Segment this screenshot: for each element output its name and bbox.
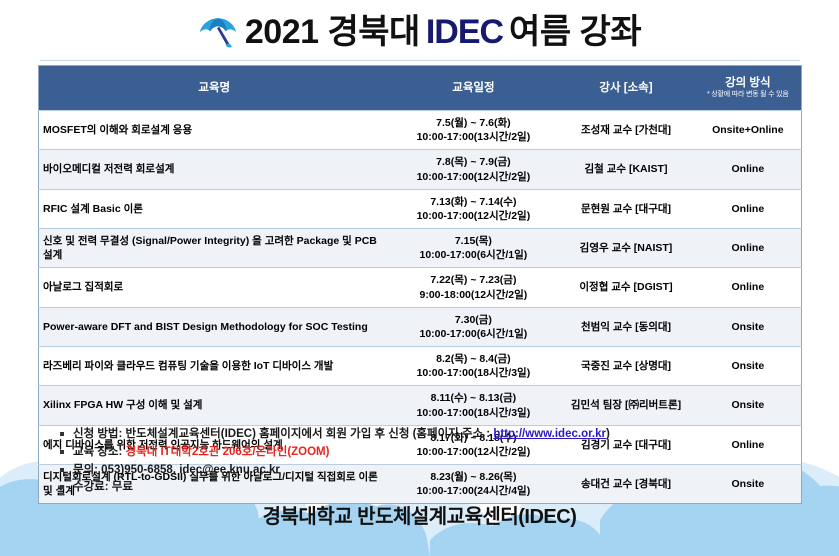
table-row: 신호 및 전력 무결성 (Signal/Power Integrity) 을 고…: [39, 229, 802, 268]
cell-course-mode: Online: [695, 150, 802, 189]
cell-course-schedule: 7.5(월) ~ 7.6(화)10:00-17:00(13시간/2일): [389, 111, 557, 150]
header-lecturer: 강사 [소속]: [557, 66, 694, 111]
cell-course-name: 신호 및 전력 무결성 (Signal/Power Integrity) 을 고…: [39, 229, 390, 268]
note-text: ): [606, 428, 610, 440]
cell-lecturer: 김영우 교수 [NAIST]: [557, 229, 694, 268]
cell-course-schedule: 8.11(수) ~ 8.13(금)10:00-17:00(18시간/3일): [389, 386, 557, 425]
cell-course-mode: Onsite: [695, 386, 802, 425]
cell-course-mode: Online: [695, 229, 802, 268]
note-text: 수강료: 무료: [73, 481, 133, 493]
cell-schedule-date: 7.22(목) ~ 7.23(금): [393, 273, 553, 287]
cell-lecturer: 이정협 교수 [DGIST]: [557, 268, 694, 307]
cell-schedule-date: 7.30(금): [393, 313, 553, 327]
note-text: 신청 방법: 반도체설계교육센터(IDEC) 홈페이지에서 회원 가입 후 신청…: [73, 428, 493, 440]
header-course-mode-label: 강의 방식: [725, 77, 771, 89]
table-header-row: 교육명 교육일정 강사 [소속] 강의 방식 * 상황에 따라 변동 될 수 있…: [39, 66, 802, 111]
table-row: MOSFET의 이해와 회로설계 응용7.5(월) ~ 7.6(화)10:00-…: [39, 111, 802, 150]
parasol-icon: [198, 12, 238, 52]
cell-course-mode: Online: [695, 268, 802, 307]
table-row: 바이오메디컬 저전력 회로설계7.8(목) ~ 7.9(금)10:00-17:0…: [39, 150, 802, 189]
cell-course-schedule: 7.8(목) ~ 7.9(금)10:00-17:00(12시간/2일): [389, 150, 557, 189]
cell-course-mode: Onsite: [695, 307, 802, 346]
cell-course-schedule: 8.2(목) ~ 8.4(금)10:00-17:00(18시간/3일): [389, 347, 557, 386]
header-course-mode-note: * 상황에 따라 변동 될 수 있음: [697, 91, 799, 100]
note-emphasis-text: 경북대 IT대학2호관 206호/온라인(ZOOM): [126, 446, 330, 458]
cell-schedule-time: 10:00-17:00(18시간/3일): [393, 366, 553, 380]
title-brand-idec: IDEC: [426, 15, 503, 49]
cell-schedule-time: 10:00-17:00(18시간/3일): [393, 406, 553, 420]
bullet-square-icon: [60, 432, 64, 436]
note-text: 문의: 053)950-6858, idec@ee.knu.ac.kr: [73, 464, 280, 476]
notes-list: 신청 방법: 반도체설계교육센터(IDEC) 홈페이지에서 회원 가입 후 신청…: [60, 426, 820, 497]
cell-schedule-date: 7.5(월) ~ 7.6(화): [393, 116, 553, 130]
cell-course-schedule: 7.15(목)10:00-17:00(6시간/1일): [389, 229, 557, 268]
bullet-square-icon: [60, 468, 64, 472]
title-suffix: 여름 강좌: [509, 15, 641, 49]
cell-schedule-date: 7.15(목): [393, 234, 553, 248]
cell-lecturer: 김민석 팀장 [㈜리버트론]: [557, 386, 694, 425]
cell-schedule-date: 7.13(화) ~ 7.14(수): [393, 195, 553, 209]
cell-course-schedule: 7.22(목) ~ 7.23(금)9:00-18:00(12시간/2일): [389, 268, 557, 307]
cell-schedule-time: 10:00-17:00(12시간/2일): [393, 209, 553, 223]
cell-lecturer: 국중진 교수 [상명대]: [557, 347, 694, 386]
cell-lecturer: 천범익 교수 [동의대]: [557, 307, 694, 346]
cell-course-name: 아날로그 집적회로: [39, 268, 390, 307]
cell-course-schedule: 7.30(금)10:00-17:00(6시간/1일): [389, 307, 557, 346]
cell-course-name: Power-aware DFT and BIST Design Methodol…: [39, 307, 390, 346]
cell-course-mode: Online: [695, 189, 802, 228]
cell-schedule-time: 10:00-17:00(13시간/2일): [393, 130, 553, 144]
note-item: 신청 방법: 반도체설계교육센터(IDEC) 홈페이지에서 회원 가입 후 신청…: [60, 426, 820, 444]
header-course-name: 교육명: [39, 66, 390, 111]
note-item: 문의: 053)950-6858, idec@ee.knu.ac.kr: [60, 462, 820, 480]
cell-schedule-date: 8.11(수) ~ 8.13(금): [393, 391, 553, 405]
cell-schedule-time: 9:00-18:00(12시간/2일): [393, 288, 553, 302]
header-course-schedule: 교육일정: [389, 66, 557, 111]
cell-lecturer: 문현원 교수 [대구대]: [557, 189, 694, 228]
cell-schedule-date: 8.2(목) ~ 8.4(금): [393, 352, 553, 366]
cell-lecturer: 조성재 교수 [가천대]: [557, 111, 694, 150]
table-row: Power-aware DFT and BIST Design Methodol…: [39, 307, 802, 346]
cell-course-schedule: 7.13(화) ~ 7.14(수)10:00-17:00(12시간/2일): [389, 189, 557, 228]
cell-schedule-time: 10:00-17:00(6시간/1일): [393, 327, 553, 341]
page-title: 2021 경북대 IDEC 여름 강좌: [0, 6, 839, 58]
note-text: 교육 장소:: [73, 446, 126, 458]
bullet-square-icon: [60, 450, 64, 454]
footer-organization: 경북대학교 반도체설계교육센터(IDEC): [0, 500, 839, 529]
cell-course-mode: Onsite: [695, 347, 802, 386]
table-row: 라즈베리 파이와 클라우드 컴퓨팅 기술을 이용한 IoT 디바이스 개발8.2…: [39, 347, 802, 386]
cell-schedule-time: 10:00-17:00(12시간/2일): [393, 170, 553, 184]
cell-course-name: RFIC 설계 Basic 이론: [39, 189, 390, 228]
table-row: Xilinx FPGA HW 구성 이해 및 설계8.11(수) ~ 8.13(…: [39, 386, 802, 425]
cell-course-name: 라즈베리 파이와 클라우드 컴퓨팅 기술을 이용한 IoT 디바이스 개발: [39, 347, 390, 386]
note-item: 교육 장소: 경북대 IT대학2호관 206호/온라인(ZOOM): [60, 444, 820, 462]
cell-course-name: 바이오메디컬 저전력 회로설계: [39, 150, 390, 189]
note-homepage-link[interactable]: http://www.idec.or.kr: [493, 428, 606, 440]
cell-course-name: Xilinx FPGA HW 구성 이해 및 설계: [39, 386, 390, 425]
header-course-mode: 강의 방식 * 상황에 따라 변동 될 수 있음: [695, 66, 802, 111]
cell-lecturer: 김철 교수 [KAIST]: [557, 150, 694, 189]
note-item: 수강료: 무료: [60, 479, 820, 497]
cell-course-name: MOSFET의 이해와 회로설계 응용: [39, 111, 390, 150]
top-divider-rule: [40, 60, 800, 61]
title-prefix: 2021 경북대: [245, 15, 420, 49]
cell-schedule-date: 7.8(목) ~ 7.9(금): [393, 155, 553, 169]
bullet-square-icon: [60, 485, 64, 489]
table-row: 아날로그 집적회로7.22(목) ~ 7.23(금)9:00-18:00(12시…: [39, 268, 802, 307]
cell-course-mode: Onsite+Online: [695, 111, 802, 150]
table-row: RFIC 설계 Basic 이론7.13(화) ~ 7.14(수)10:00-1…: [39, 189, 802, 228]
cell-schedule-time: 10:00-17:00(6시간/1일): [393, 248, 553, 262]
